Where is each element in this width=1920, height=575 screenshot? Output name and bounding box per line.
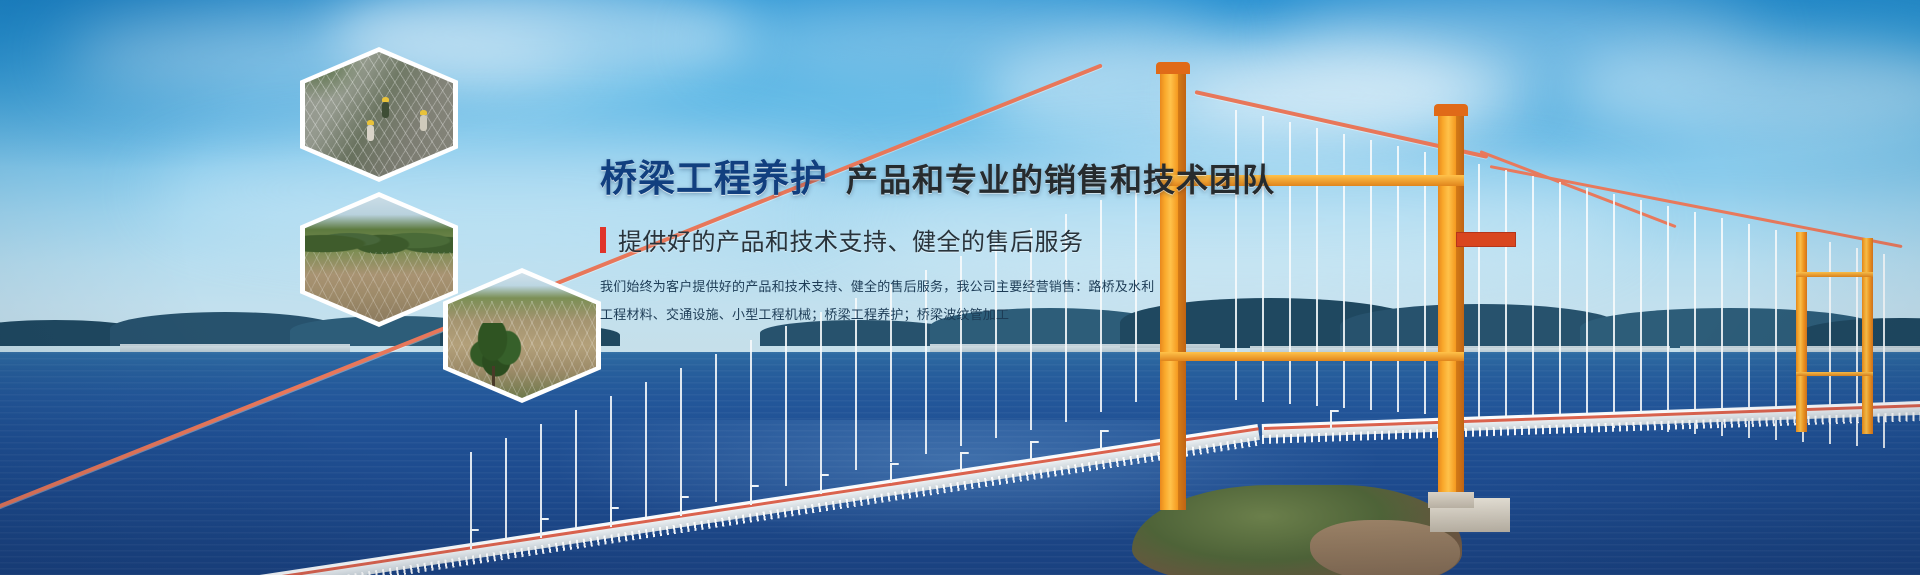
body-line: 工程材料、交通设施、小型工程机械；桥梁工程养护；桥梁波纹管加工 xyxy=(600,305,1360,326)
photo-hex-2[interactable] xyxy=(300,192,458,327)
tower-base xyxy=(1428,492,1474,508)
photo-hex-3[interactable] xyxy=(443,268,601,403)
rockfall-netting-photo xyxy=(305,52,453,177)
subheadline-row: 提供好的产品和技术支持、健全的售后服务 xyxy=(600,222,1360,257)
body-line: 我们始终为客户提供好的产品和技术支持、健全的售后服务，我公司主要经营销售：路桥及… xyxy=(600,277,1360,298)
slope-protection-photo xyxy=(448,273,596,398)
bridge-deck xyxy=(259,424,1260,575)
bridge-tower-far xyxy=(1796,232,1807,432)
back-stay-cable xyxy=(1479,150,1676,228)
headline-row: 桥梁工程养护 产品和专业的销售和技术团队 xyxy=(600,148,1360,202)
worker-figure xyxy=(367,125,374,141)
worker-figure xyxy=(382,102,389,118)
accent-bar-icon xyxy=(600,227,606,253)
hero-banner: 桥梁工程养护 产品和专业的销售和技术团队 提供好的产品和技术支持、健全的售后服务… xyxy=(0,0,1920,575)
banner-copy: 桥梁工程养护 产品和专业的销售和技术团队 提供好的产品和技术支持、健全的售后服务… xyxy=(600,148,1360,333)
subheadline-text: 提供好的产品和技术支持、健全的售后服务 xyxy=(618,222,1084,257)
worker-figure xyxy=(420,115,427,131)
vegetated-slope-photo xyxy=(305,197,453,322)
photo-hex-1[interactable] xyxy=(300,47,458,182)
tower-cross-brace xyxy=(1160,352,1464,361)
headline-primary: 桥梁工程养护 xyxy=(600,148,828,202)
tower-sign xyxy=(1456,232,1516,247)
body-copy: 我们始终为客户提供好的产品和技术支持、健全的售后服务，我公司主要经营销售：路桥及… xyxy=(600,277,1360,326)
bridge-tower-far-leg xyxy=(1862,238,1873,434)
back-stay-cable xyxy=(1490,165,1903,248)
headline-secondary: 产品和专业的销售和技术团队 xyxy=(846,155,1275,201)
